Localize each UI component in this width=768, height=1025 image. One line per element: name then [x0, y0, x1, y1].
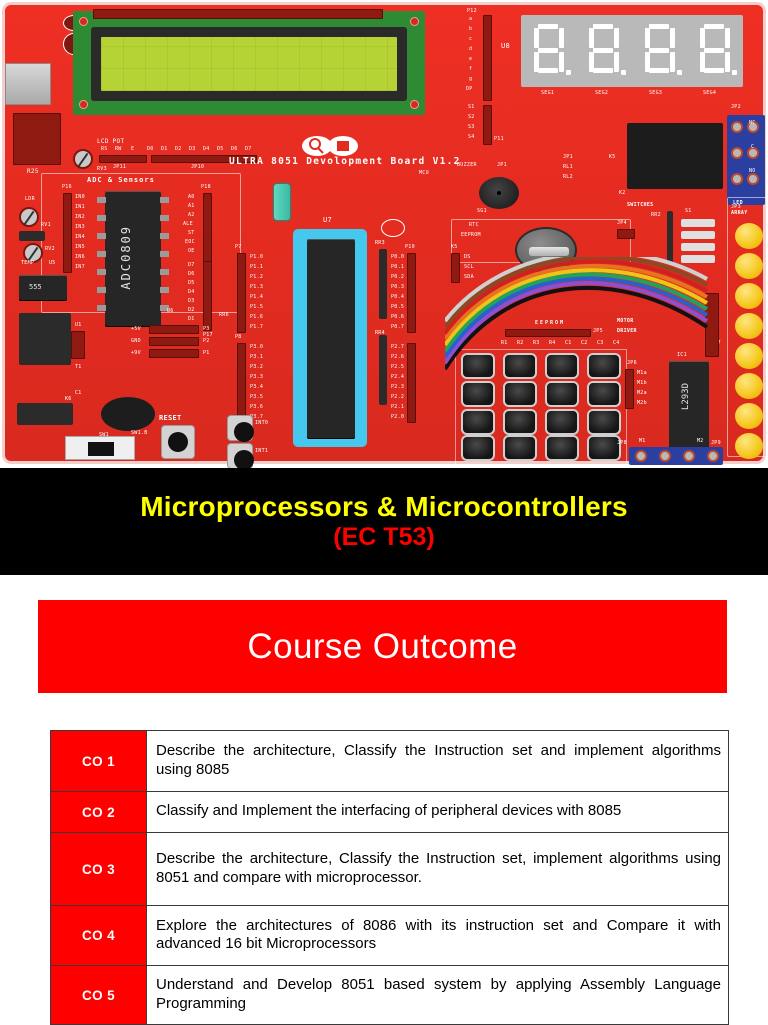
seg-sel-s2: S2 — [468, 115, 475, 120]
keypad-c3: C3 — [597, 341, 604, 346]
lcd-pin-d0: D0 — [147, 147, 154, 152]
p10-ref: P10 — [405, 245, 415, 250]
lcd-pin-d1: D1 — [161, 147, 168, 152]
u8-ref: U8 — [501, 43, 510, 50]
table-row: CO 4 Explore the architectures of 8086 w… — [51, 906, 729, 966]
table-row: CO 2 Classify and Implement the interfac… — [51, 792, 729, 833]
course-outcome-banner: Course Outcome — [38, 600, 727, 693]
crystal-outline — [381, 219, 405, 237]
m1-ref: M1 — [639, 439, 646, 444]
rr3-ref: RR3 — [375, 241, 385, 246]
dip-switch-2[interactable] — [681, 231, 715, 239]
jp8-ref: JP8 — [617, 441, 627, 446]
rl1-ref: RL1 — [563, 165, 573, 170]
lcd-contrast-pot[interactable] — [73, 149, 93, 169]
ldr-label: LDR — [25, 197, 35, 202]
keypad-key-11[interactable] — [545, 409, 579, 435]
development-board-image: USB PWR R25 LCD POT RV3 RS RW E D0 D1 D2… — [0, 0, 768, 468]
keypad-key-4[interactable] — [587, 353, 621, 379]
temp-label: TEMP — [21, 261, 34, 266]
title-band: Microprocessors & Microcontrollers (EC T… — [0, 468, 768, 575]
relay-no-1: NO — [749, 169, 756, 174]
p10-header — [407, 253, 416, 333]
port-p0-3: P0.3 — [391, 285, 404, 290]
port-p1-5: P1.5 — [250, 305, 263, 310]
switches-label: SWITCHES — [627, 203, 653, 208]
port-p2-0: P2.7 — [391, 345, 404, 350]
p8-header — [237, 343, 246, 423]
k5b-ref: K5 — [451, 245, 458, 250]
lcd-pin-d6: D6 — [231, 147, 238, 152]
co-code-cell: CO 4 — [51, 906, 147, 966]
keypad-key-6[interactable] — [503, 381, 537, 407]
seg-pin-a: a — [469, 17, 472, 22]
port-p1-4: P1.4 — [250, 295, 263, 300]
jp6-header — [625, 369, 634, 409]
seg-sel-s4: S4 — [468, 135, 475, 140]
i2c-header — [451, 253, 460, 283]
max232-ic — [17, 403, 73, 425]
relay-terminal-block — [727, 115, 765, 205]
t1-ref: T1 — [75, 365, 82, 370]
jp9-ref: JP9 — [711, 441, 721, 446]
port-p0-0: P0.0 — [391, 255, 404, 260]
relay-k1 — [627, 123, 723, 189]
pcb-substrate: USB PWR R25 LCD POT RV3 RS RW E D0 D1 D2… — [2, 2, 766, 464]
rr4-resistor-network — [379, 335, 387, 405]
sg1-ref: SG1 — [477, 209, 487, 214]
port-p3-5: P3.5 — [250, 395, 263, 400]
ic1-ref: IC1 — [677, 353, 687, 358]
lcd-module — [73, 11, 425, 115]
rr2-network — [667, 211, 673, 263]
jp11-header — [99, 155, 147, 163]
p7-ref: P7 — [235, 245, 242, 250]
port-p1-3: P1.3 — [250, 285, 263, 290]
port-p2-4: P2.3 — [391, 385, 404, 390]
keypad-key-14[interactable] — [503, 435, 537, 461]
keypad-key-16[interactable] — [587, 435, 621, 461]
buzzer-label: BUZZER — [457, 163, 477, 168]
lcd-pin-d2: D2 — [175, 147, 182, 152]
motor-m2a: M2a — [637, 391, 647, 396]
p9-header — [407, 343, 416, 423]
p8-ref: P8 — [235, 335, 242, 340]
power-pin-9v: +9V — [131, 351, 141, 356]
port-p0-2: P0.2 — [391, 275, 404, 280]
c1-ref: C1 — [75, 391, 82, 396]
lcd-pin-e: E — [131, 147, 134, 152]
port-p3-1: P3.1 — [250, 355, 263, 360]
u7-ref: U7 — [323, 217, 332, 224]
k6-ref: K6 — [65, 397, 72, 402]
k2-ref: K2 — [619, 191, 626, 196]
lcd-pin-d7: D7 — [245, 147, 252, 152]
motor-driver-label-1: MOTOR — [617, 319, 634, 324]
port-p0-6: P0.6 — [391, 315, 404, 320]
port-p0-7: P0.7 — [391, 325, 404, 330]
board-logo — [301, 135, 359, 157]
board-title-silk: ULTRA 8051 Devolopment Board V1.2 — [229, 157, 461, 167]
dip-switch-3[interactable] — [681, 243, 715, 251]
keypad-r1: R1 — [501, 341, 508, 346]
port-p3-6: P3.6 — [250, 405, 263, 410]
buzzer-sg1 — [479, 177, 519, 209]
co-desc-cell: Describe the architecture, Classify the … — [147, 833, 729, 906]
isp-header — [13, 113, 61, 165]
keypad-key-1[interactable] — [461, 353, 495, 379]
led-array-label-2: ARRAY — [731, 211, 748, 216]
port-p2-2: P2.5 — [391, 365, 404, 370]
seg-sel-s1: S1 — [468, 105, 475, 110]
keypad-c4: C4 — [613, 341, 620, 346]
jp5-ref: JP5 — [593, 329, 603, 334]
l293d-ic: L293D — [669, 361, 709, 449]
jp4-ref: JP4 — [617, 221, 627, 226]
rtc-eeprom-label: EEPROM — [461, 233, 481, 238]
seven-segment-digit-1 — [532, 23, 566, 79]
reset-label: RESET — [159, 415, 182, 422]
lcd-pin-rw: RW — [115, 147, 122, 152]
seg-sel-s3: S3 — [468, 125, 475, 130]
power-pin-gnd: GND — [131, 339, 141, 344]
p1-ref: P1 — [203, 351, 210, 356]
motor-m1b: M1b — [637, 381, 647, 386]
timer-555-marking: 555 — [29, 283, 42, 291]
keypad-key-5[interactable] — [461, 381, 495, 407]
co-code-cell: CO 1 — [51, 731, 147, 792]
voltage-regulator — [19, 313, 71, 365]
seg2-label: SEG2 — [595, 91, 608, 96]
table-row: CO 5 Understand and Develop 8051 based s… — [51, 966, 729, 1025]
p3-power-header — [149, 325, 199, 334]
seg-pin-c: c — [469, 37, 472, 42]
port-p0-5: P0.5 — [391, 305, 404, 310]
keypad-key-8[interactable] — [587, 381, 621, 407]
keypad-key-7[interactable] — [545, 381, 579, 407]
lcd-bezel — [91, 27, 407, 101]
int1-button[interactable] — [227, 443, 253, 468]
course-outcome-table: CO 1 Describe the architecture, Classify… — [50, 730, 729, 1025]
keypad-r4: R4 — [549, 341, 556, 346]
dip-switch-4[interactable] — [681, 255, 715, 263]
seg-pin-g: g — [469, 77, 472, 82]
port-p2-7: P2.0 — [391, 415, 404, 420]
lcd-pin-d5: D5 — [217, 147, 224, 152]
keypad-key-2[interactable] — [503, 353, 537, 379]
seg3-label: SEG3 — [649, 91, 662, 96]
p3-ref: P3 — [203, 327, 210, 332]
coin-cell-battery — [515, 227, 577, 273]
keypad-r2: R2 — [517, 341, 524, 346]
co-code-cell: CO 2 — [51, 792, 147, 833]
eeprom-header — [505, 329, 591, 337]
led-1 — [735, 223, 763, 249]
jp2-ref: JP2 — [731, 105, 741, 110]
port-p3-0: P3.0 — [250, 345, 263, 350]
led-2 — [735, 253, 763, 279]
port-p1-2: P1.2 — [250, 275, 263, 280]
jp6-ref: JP6 — [627, 361, 637, 366]
led-3 — [735, 283, 763, 309]
int0-label: INT0 — [255, 421, 268, 426]
p12-ref: P12 — [467, 9, 477, 14]
usb-connector — [5, 63, 51, 105]
l293d-marking: L293D — [681, 383, 691, 410]
co-desc-cell: Describe the architecture, Classify the … — [147, 731, 729, 792]
power-slide-switch[interactable] — [65, 436, 135, 460]
keypad-key-12[interactable] — [587, 409, 621, 435]
co-desc-cell: Classify and Implement the interfacing o… — [147, 792, 729, 833]
jp7-header — [705, 293, 719, 357]
lcd-screen — [101, 37, 397, 91]
seg-pin-e: e — [469, 57, 472, 62]
power-pin-5v: +5V — [131, 327, 141, 332]
keypad-key-3[interactable] — [545, 353, 579, 379]
seg-pin-f: f — [469, 67, 472, 72]
motor-driver-label-2: DRIVER — [617, 329, 637, 334]
led-4 — [735, 313, 763, 339]
port-p1-1: P1.1 — [250, 265, 263, 270]
seven-segment-digit-2 — [587, 23, 621, 79]
seg-select-header — [483, 105, 492, 145]
lcd-pin-rs: RS — [101, 147, 108, 152]
eeprom-label: EEPROM — [535, 321, 565, 326]
keypad-c2: C2 — [581, 341, 588, 346]
port-p1-0: P1.0 — [250, 255, 263, 260]
rr3-resistor-network — [379, 249, 387, 319]
jp4-header — [617, 229, 635, 239]
co-desc-cell: Understand and Develop 8051 based system… — [147, 966, 729, 1025]
lcd-pot-label: LCD POT — [97, 139, 124, 145]
seg-pin-d: d — [469, 47, 472, 52]
port-p3-2: P3.2 — [250, 365, 263, 370]
reset-button[interactable] — [161, 425, 195, 459]
buzzer-cap — [101, 397, 155, 431]
course-outcome-section: Course Outcome CO 1 Describe the archite… — [0, 575, 768, 1024]
port-p2-1: P2.6 — [391, 355, 404, 360]
int1-label: INT1 — [255, 449, 268, 454]
k5-ref: K5 — [609, 155, 616, 160]
rr4-ref: RR4 — [375, 331, 385, 336]
lcd-pin-d3: D3 — [189, 147, 196, 152]
motor-m2b: M2b — [637, 401, 647, 406]
lcd-pin-d4: D4 — [203, 147, 210, 152]
port-p3-4: P3.4 — [250, 385, 263, 390]
keypad-key-9[interactable] — [461, 409, 495, 435]
i2c-sda: SDA — [464, 275, 474, 280]
table-row: CO 1 Describe the architecture, Classify… — [51, 731, 729, 792]
i2c-scl: SCL — [464, 265, 474, 270]
port-p0-1: P0.1 — [391, 265, 404, 270]
keypad-key-13[interactable] — [461, 435, 495, 461]
jp1-ref: JP1 — [497, 163, 507, 168]
course-code: (EC T53) — [333, 523, 434, 552]
port-p2-3: P2.4 — [391, 375, 404, 380]
rr6-ref: RR6 — [219, 313, 229, 318]
seven-segment-digit-4 — [698, 23, 732, 79]
p1-power-header — [149, 349, 199, 358]
relay-nc-1: NC — [749, 121, 756, 126]
m2-ref: M2 — [697, 439, 704, 444]
mcu-8051-ic — [307, 239, 355, 439]
seg-pin-dp: DP — [466, 87, 473, 92]
jp11-ref: JP11 — [113, 165, 126, 170]
p2-ref: P2 — [203, 339, 210, 344]
keypad-c1: C1 — [565, 341, 572, 346]
r25-ref: R25 — [27, 169, 39, 175]
mcu-label: MCU — [419, 171, 429, 176]
keypad-key-10[interactable] — [503, 409, 537, 435]
led-8 — [735, 433, 763, 459]
int0-button[interactable] — [227, 415, 253, 441]
course-outcome-banner-text: Course Outcome — [247, 627, 517, 667]
table-row: CO 3 Describe the architecture, Classify… — [51, 833, 729, 906]
electrolytic-cap — [273, 183, 291, 221]
p7-header — [237, 253, 246, 333]
seven-segment-digit-3 — [643, 23, 677, 79]
motor-m1a: M1a — [637, 371, 647, 376]
port-p2-6: P2.1 — [391, 405, 404, 410]
led-5 — [735, 343, 763, 369]
rr2-ref: RR2 — [651, 213, 661, 218]
seg-pin-header — [483, 15, 492, 101]
dip-switch-1[interactable] — [681, 219, 715, 227]
seg4-label: SEG4 — [703, 91, 716, 96]
led-7 — [735, 403, 763, 429]
u1-ref: U1 — [75, 323, 82, 328]
jp10-ref: JP10 — [191, 165, 204, 170]
port-p1-6: P1.6 — [250, 315, 263, 320]
co-code-cell: CO 5 — [51, 966, 147, 1025]
p2-power-header — [149, 337, 199, 346]
reg-header — [71, 331, 85, 359]
seven-segment-display — [521, 15, 743, 87]
port-p1-7: P1.7 — [250, 325, 263, 330]
i2c-ds: DS — [464, 255, 471, 260]
lcd-pin-header — [93, 9, 383, 19]
keypad-key-15[interactable] — [545, 435, 579, 461]
ldr-sensor — [19, 207, 39, 227]
motor-terminal-block — [629, 447, 723, 465]
co-desc-cell: Explore the architectures of 8086 with i… — [147, 906, 729, 966]
led-array-label-1: LED — [733, 201, 743, 206]
s1-ref: S1 — [685, 209, 692, 214]
co-code-cell: CO 3 — [51, 833, 147, 906]
port-p3-3: P3.3 — [250, 375, 263, 380]
rtc-label: RTC — [469, 223, 479, 228]
keypad-r3: R3 — [533, 341, 540, 346]
relay-c-1: C — [751, 145, 754, 150]
page-title: Microprocessors & Microcontrollers — [140, 491, 628, 522]
led-6 — [735, 373, 763, 399]
seg-pin-b: b — [469, 27, 472, 32]
jp1b-ref: JP1 — [563, 155, 573, 160]
p11-ref: P11 — [494, 137, 504, 142]
seg1-label: SEG1 — [541, 91, 554, 96]
rl2-ref: RL2 — [563, 175, 573, 180]
port-p0-4: P0.4 — [391, 295, 404, 300]
port-p2-5: P2.2 — [391, 395, 404, 400]
